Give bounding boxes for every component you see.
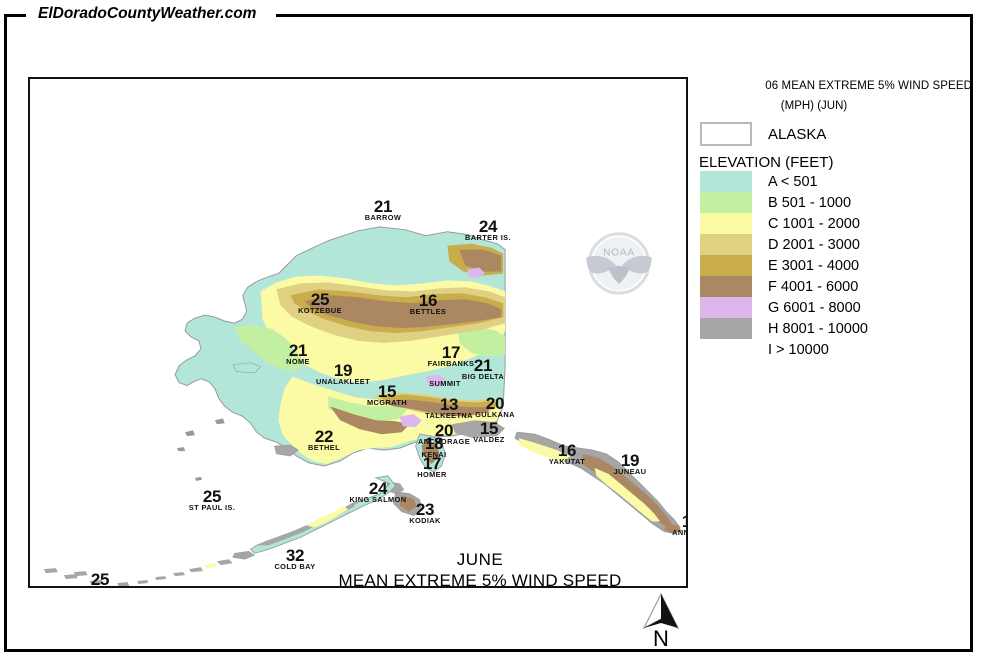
legend-class-row-d: D 2001 - 3000 <box>700 234 972 255</box>
noaa-watermark-logo: NOAA <box>580 229 658 301</box>
caption-month: JUNE <box>315 549 645 570</box>
caption-subtitle: MEAN EXTREME 5% WIND SPEED <box>315 570 645 588</box>
legend-label-g: G 6001 - 8000 <box>768 300 861 316</box>
legend-swatch-c <box>700 213 752 234</box>
compass-rose: N <box>630 592 692 656</box>
map-caption: JUNE MEAN EXTREME 5% WIND SPEED <box>315 549 645 588</box>
legend-label-c: C 1001 - 2000 <box>768 216 860 232</box>
legend-label-a: A < 501 <box>768 174 818 190</box>
legend-class-row-f: F 4001 - 6000 <box>700 276 972 297</box>
map-panel[interactable]: NOAA 21BARROW24BARTER IS.25KOTZEBUE16BET… <box>28 77 688 588</box>
legend-label-d: D 2001 - 3000 <box>768 237 860 253</box>
legend-label-f: F 4001 - 6000 <box>768 279 858 295</box>
legend-class-row-b: B 501 - 1000 <box>700 192 972 213</box>
legend-class-row-g: G 6001 - 8000 <box>700 297 972 318</box>
compass-north-label: N <box>630 628 692 650</box>
legend-swatch-g <box>700 297 752 318</box>
legend-class-row-h: H 8001 - 10000 <box>700 318 972 339</box>
legend-region-swatch <box>700 122 752 146</box>
legend-region-row: ALASKA <box>700 122 972 146</box>
legend-label-b: B 501 - 1000 <box>768 195 851 211</box>
legend-panel: 06 MEAN EXTREME 5% WIND SPEED (MPH) (JUN… <box>700 80 972 360</box>
legend-class-row-a: A < 501 <box>700 171 972 192</box>
legend-swatch-h <box>700 318 752 339</box>
site-title: ElDoradoCountyWeather.com <box>30 5 264 23</box>
legend-class-list: A < 501B 501 - 1000C 1001 - 2000D 2001 -… <box>700 171 972 360</box>
legend-swatch-e <box>700 255 752 276</box>
legend-label-h: H 8001 - 10000 <box>768 321 868 337</box>
alaska-map-svg <box>30 79 686 586</box>
legend-swatch-b <box>700 192 752 213</box>
legend-title-line1: 06 MEAN EXTREME 5% WIND SPEED <box>700 80 972 92</box>
legend-swatch-i <box>700 339 752 360</box>
legend-swatch-d <box>700 234 752 255</box>
legend-swatch-a <box>700 171 752 192</box>
legend-region-label: ALASKA <box>768 126 826 143</box>
legend-class-row-e: E 3001 - 4000 <box>700 255 972 276</box>
legend-class-row-c: C 1001 - 2000 <box>700 213 972 234</box>
legend-swatch-f <box>700 276 752 297</box>
legend-title-line2: (MPH) (JUN) <box>700 100 972 112</box>
legend-label-i: I > 10000 <box>768 342 829 358</box>
station-name: ADAK <box>89 587 112 588</box>
noaa-watermark-text: NOAA <box>603 248 635 259</box>
legend-label-e: E 3001 - 4000 <box>768 258 859 274</box>
legend-class-row-i: I > 10000 <box>700 339 972 360</box>
legend-elevation-title: ELEVATION (FEET) <box>699 154 972 171</box>
